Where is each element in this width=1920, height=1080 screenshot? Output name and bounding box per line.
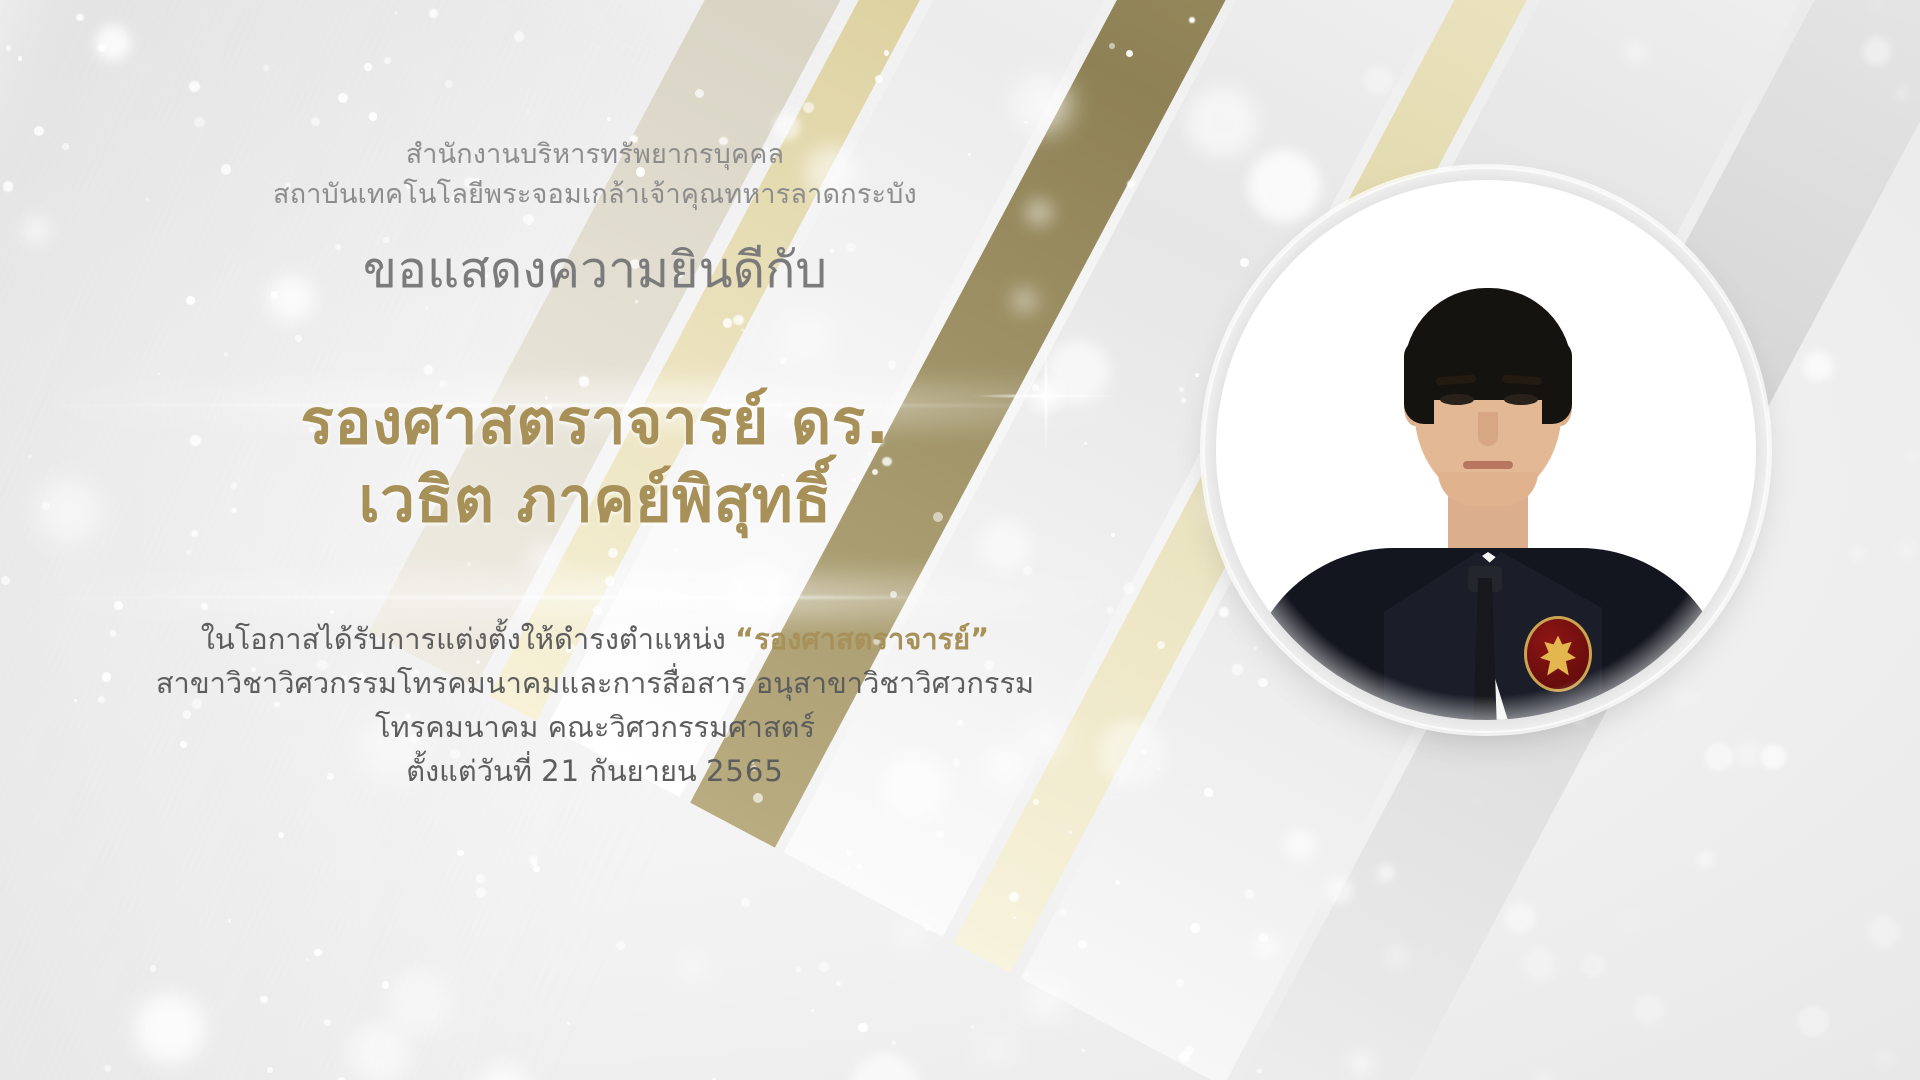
portrait-figure (1216, 180, 1756, 720)
hair-side-left (1404, 340, 1434, 424)
hair-side-right (1542, 340, 1572, 424)
greeting-text: ขอแสดงความยินดีกับ (0, 239, 1190, 301)
effective-date-day: 21 (541, 754, 580, 788)
organization-line-1: สำนักงานบริหารทรัพยากรบุคคล (0, 135, 1190, 175)
text-column: สำนักงานบริหารทรัพยากรบุคคล สถาบันเทคโนโ… (0, 0, 1190, 793)
nose-shape (1478, 412, 1498, 446)
banner-stage: สำนักงานบริหารทรัพยากรบุคคล สถาบันเทคโนโ… (0, 0, 1920, 1080)
effective-date-month: กันยายน (580, 754, 706, 788)
effective-date-year: 2565 (706, 754, 784, 788)
honoree-academic-title: รองศาสตราจารย์ ดร. (0, 383, 1190, 461)
eye-right (1504, 394, 1538, 405)
citation-line-1: ในโอกาสได้รับการแต่งตั้งให้ดำรงตำแหน่ง “… (0, 617, 1190, 661)
organization-block: สำนักงานบริหารทรัพยากรบุคคล สถาบันเทคโนโ… (0, 135, 1190, 215)
effective-date-prefix: ตั้งแต่วันที่ (406, 754, 541, 788)
mouth-shape (1463, 461, 1513, 469)
honoree-name: เวธิต ภาคย์พิสุทธิ์ (0, 461, 1190, 539)
portrait-photo (1216, 180, 1756, 720)
institution-emblem-icon (1524, 616, 1592, 692)
citation-block: ในโอกาสได้รับการแต่งตั้งให้ดำรงตำแหน่ง “… (0, 617, 1190, 793)
organization-line-2: สถาบันเทคโนโลยีพระจอมเกล้าเจ้าคุณทหารลาด… (0, 175, 1190, 215)
citation-line-4: ตั้งแต่วันที่ 21 กันยายน 2565 (0, 749, 1190, 793)
citation-line-3: โทรคมนาคม คณะวิศวกรรมศาสตร์ (0, 705, 1190, 749)
honoree-name-block: รองศาสตราจารย์ ดร. เวธิต ภาคย์พิสุทธิ์ (0, 383, 1190, 539)
eye-left (1440, 394, 1474, 405)
citation-line-2: สาขาวิชาวิศวกรรมโทรคมนาคมและการสื่อสาร อ… (0, 661, 1190, 705)
citation-line-1-prefix: ในโอกาสได้รับการแต่งตั้งให้ดำรงตำแหน่ง (201, 622, 735, 656)
emblem-crest (1540, 636, 1576, 676)
citation-position-highlight: “รองศาสตราจารย์” (735, 622, 989, 656)
